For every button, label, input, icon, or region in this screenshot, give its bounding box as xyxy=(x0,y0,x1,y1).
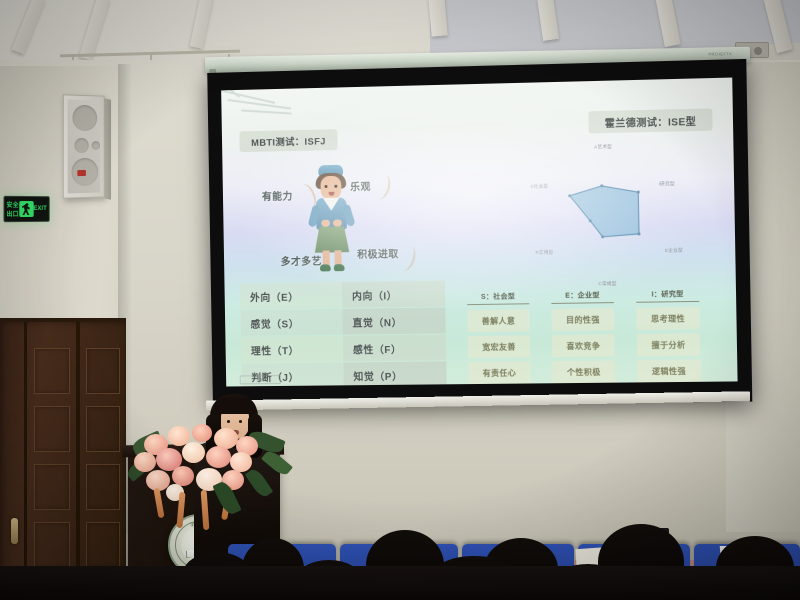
holland-trait-item: 喜欢竞争 xyxy=(552,334,615,357)
slide-corner-decoration xyxy=(221,84,306,132)
radar-label-s: S社会型 xyxy=(530,184,548,190)
holland-column-enterprising: E：企业型 目的性强 喜欢竞争 个性积极 xyxy=(551,290,615,386)
mbti-cell-right: 知觉（P） xyxy=(343,361,446,386)
table-row: 感觉（S） 直觉（N） xyxy=(241,307,446,336)
holland-trait-item: 目的性强 xyxy=(551,308,614,331)
holland-trait-item: 擅于分析 xyxy=(637,333,701,356)
screen-surface: MBTI测试：ISFJ 霍兰德测试：ISE型 xyxy=(221,78,737,387)
trait-label-proactive: 积极进取 xyxy=(357,245,399,261)
mbti-cell-left: 感觉（S） xyxy=(241,309,343,336)
radar-label-a: A艺术型 xyxy=(594,144,612,150)
ceiling-beam xyxy=(428,0,447,37)
holland-trait-item: 有责任心 xyxy=(468,361,530,384)
trait-label-versatile: 多才多艺 xyxy=(281,253,322,269)
radar-polygon xyxy=(570,185,639,237)
door-leaf-divider xyxy=(24,322,27,580)
door-panel xyxy=(86,522,120,568)
ceiling-beam xyxy=(12,0,46,54)
projection-screen: MBTI测试：ISFJ 霍兰德测试：ISE型 xyxy=(207,59,752,406)
roller-brand-label: PROJECTA xyxy=(708,51,732,56)
presentation-slide: MBTI测试：ISFJ 霍兰德测试：ISE型 xyxy=(221,78,737,387)
door-panel xyxy=(86,464,120,510)
holland-radar-chart: A艺术型 I研究型 E企业型 C常规型 R实用型 S社会型 xyxy=(518,131,703,305)
door-panel xyxy=(34,464,70,510)
radar-label-c: C常规型 xyxy=(598,281,616,287)
table-row: 理性（T） 感性（F） xyxy=(241,334,446,362)
holland-column-investigative: I：研究型 思考理性 擅于分析 逻辑性强 xyxy=(636,289,701,387)
mbti-cell-left: 外向（E） xyxy=(240,282,342,309)
exit-sign-label-cn: 安全出口 xyxy=(7,200,20,218)
speaker-brand-badge xyxy=(77,170,86,176)
exit-sign: 安全出口 EXIT xyxy=(4,196,50,222)
mbti-dimension-table: 外向（E） 内向（I） 感觉（S） 直觉（N） 理性（T） 感性（F） 判断（J… xyxy=(240,280,447,386)
presenter-fringe xyxy=(214,398,256,414)
running-man-exit-icon xyxy=(19,201,33,217)
flower-arrangement xyxy=(126,418,296,538)
trait-label-capable: 有能力 xyxy=(262,188,293,203)
speaker-side xyxy=(104,98,111,199)
trait-label-optimistic: 乐观 xyxy=(350,178,371,193)
wall-speaker-icon xyxy=(63,94,105,198)
door-panel xyxy=(34,522,70,568)
door-panel xyxy=(34,348,70,394)
exit-sign-label-en: EXIT xyxy=(34,206,47,212)
holland-column-social: S：社会型 善解人意 宽宏友善 有责任心 xyxy=(467,291,531,386)
amaranthus-stem xyxy=(201,490,210,530)
door-panel xyxy=(86,406,120,452)
holland-column-header: I：研究型 xyxy=(636,289,699,303)
holland-type-columns: S：社会型 善解人意 宽宏友善 有责任心 E：企业型 目的性强 喜欢竞争 个性积… xyxy=(467,288,721,386)
mbti-cell-left: 理性（T） xyxy=(241,336,343,363)
door-mullion xyxy=(76,322,80,580)
holland-column-header: S：社会型 xyxy=(467,291,529,305)
radar-label-r: R实用型 xyxy=(535,250,553,256)
holland-column-header: E：企业型 xyxy=(551,290,614,304)
holland-trait-item: 善解人意 xyxy=(467,309,529,332)
foreground-shadow xyxy=(0,566,800,600)
holland-trait-item: 宽宏友善 xyxy=(468,335,530,358)
holland-trait-item: 思考理性 xyxy=(636,307,699,330)
mbti-cell-right: 感性（F） xyxy=(343,334,446,361)
holland-trait-item: 逻辑性强 xyxy=(637,360,701,383)
mbti-cell-right: 直觉（N） xyxy=(342,307,445,334)
door-handle[interactable] xyxy=(11,518,18,544)
radar-label-i: I研究型 xyxy=(659,181,675,187)
ceiling-beam xyxy=(79,0,110,61)
radar-label-e: E企业型 xyxy=(665,248,683,254)
holland-trait-item: 个性积极 xyxy=(552,360,615,383)
mbti-cell-right: 内向（I） xyxy=(342,280,445,307)
lecture-hall-scene: PROJECTA MBTI测试：ISFJ 霍兰德测试：ISE型 xyxy=(0,0,800,600)
door-panel xyxy=(34,406,70,452)
table-row: 外向（E） 内向（I） xyxy=(240,280,445,309)
door-panel xyxy=(86,348,120,394)
radar-svg xyxy=(518,131,703,305)
trait-swoosh xyxy=(370,172,393,201)
ceiling-beam xyxy=(190,0,214,49)
mbti-title-chip: MBTI测试：ISFJ xyxy=(239,129,337,152)
amaranthus-stem xyxy=(153,488,164,519)
holland-title-chip: 霍兰德测试：ISE型 xyxy=(588,108,712,133)
wooden-double-door[interactable] xyxy=(0,318,126,580)
slide-footer-chip: 页码 xyxy=(240,375,281,384)
speaker-grill xyxy=(68,100,100,194)
